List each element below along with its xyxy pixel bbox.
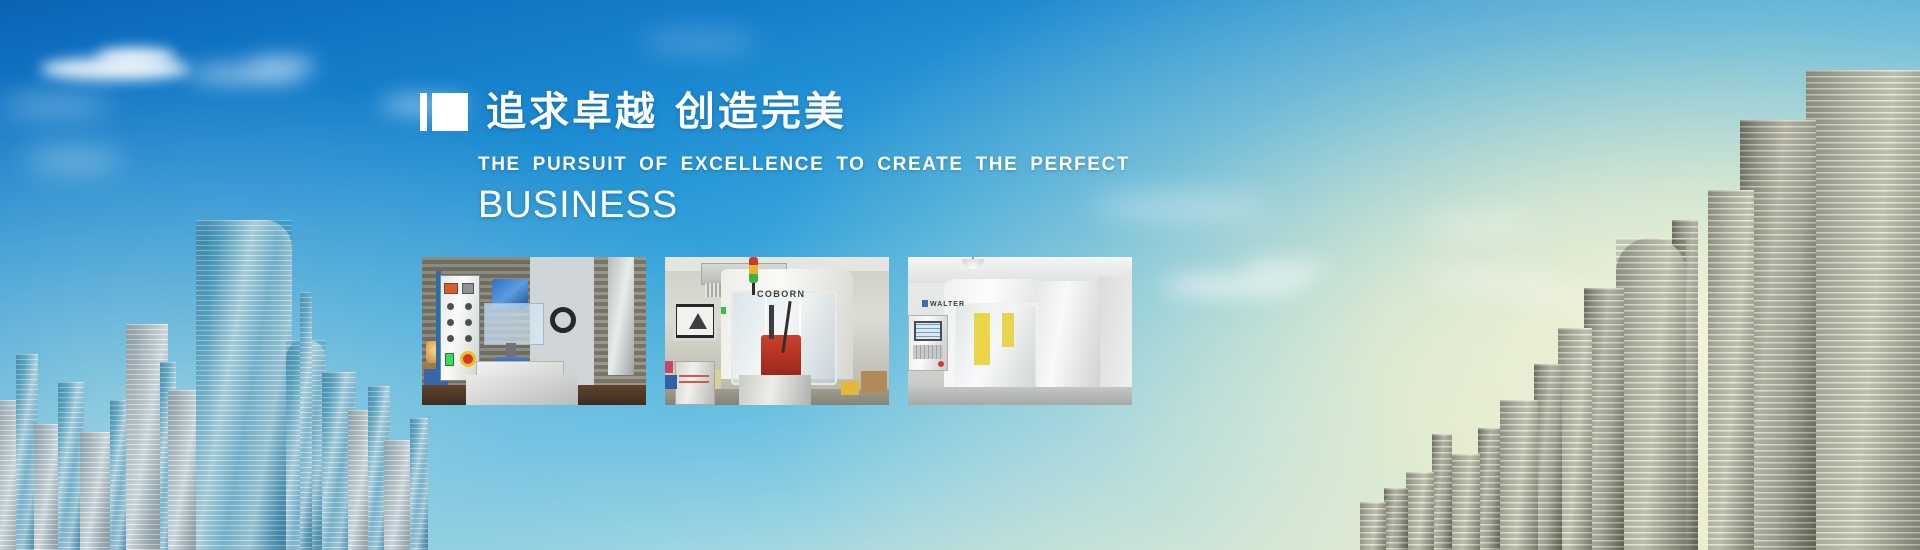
photo-cnc-surface-grinder[interactable] <box>422 257 646 405</box>
subtitle-business-word: BUSINESS <box>478 184 1120 226</box>
bar-square-logo-icon <box>420 93 468 131</box>
headline-block: 追求卓越 创造完美 THE PURSUIT OF EXCELLENCE TO C… <box>420 88 1120 226</box>
cloud-decoration <box>186 66 306 82</box>
cloud-decoration <box>0 96 110 114</box>
cloud-decoration <box>96 48 176 66</box>
cloud-decoration <box>248 58 318 72</box>
cloud-decoration <box>26 150 122 170</box>
cloud-decoration <box>1420 272 1560 290</box>
cloud-decoration <box>1510 288 1610 302</box>
cloud-decoration <box>1240 262 1330 278</box>
cloud-decoration <box>1160 276 1310 296</box>
left-skyline-graphic <box>0 120 430 550</box>
headline-chinese: 追求卓越 创造完美 <box>486 90 847 134</box>
cloud-decoration <box>640 36 760 48</box>
photo-caption: WALTER <box>930 301 965 308</box>
logo-and-title-row: 追求卓越 创造完美 <box>420 88 1120 136</box>
photo-coborn-grinder[interactable]: COBORN <box>665 257 889 405</box>
cloud-decoration <box>40 58 190 80</box>
photo-caption: COBORN <box>757 289 805 299</box>
walter-logo-icon <box>922 300 928 307</box>
machine-photo-strip: COBORN WALTER <box>422 257 1132 405</box>
cloud-decoration <box>1418 216 1538 232</box>
right-skyline-graphic <box>1320 50 1920 550</box>
subtitle-english: THE PURSUIT OF EXCELLENCE TO CREATE THE … <box>478 152 1120 178</box>
hero-banner: 追求卓越 创造完美 THE PURSUIT OF EXCELLENCE TO C… <box>0 0 1920 550</box>
photo-walter-grinder[interactable]: WALTER <box>908 257 1132 405</box>
